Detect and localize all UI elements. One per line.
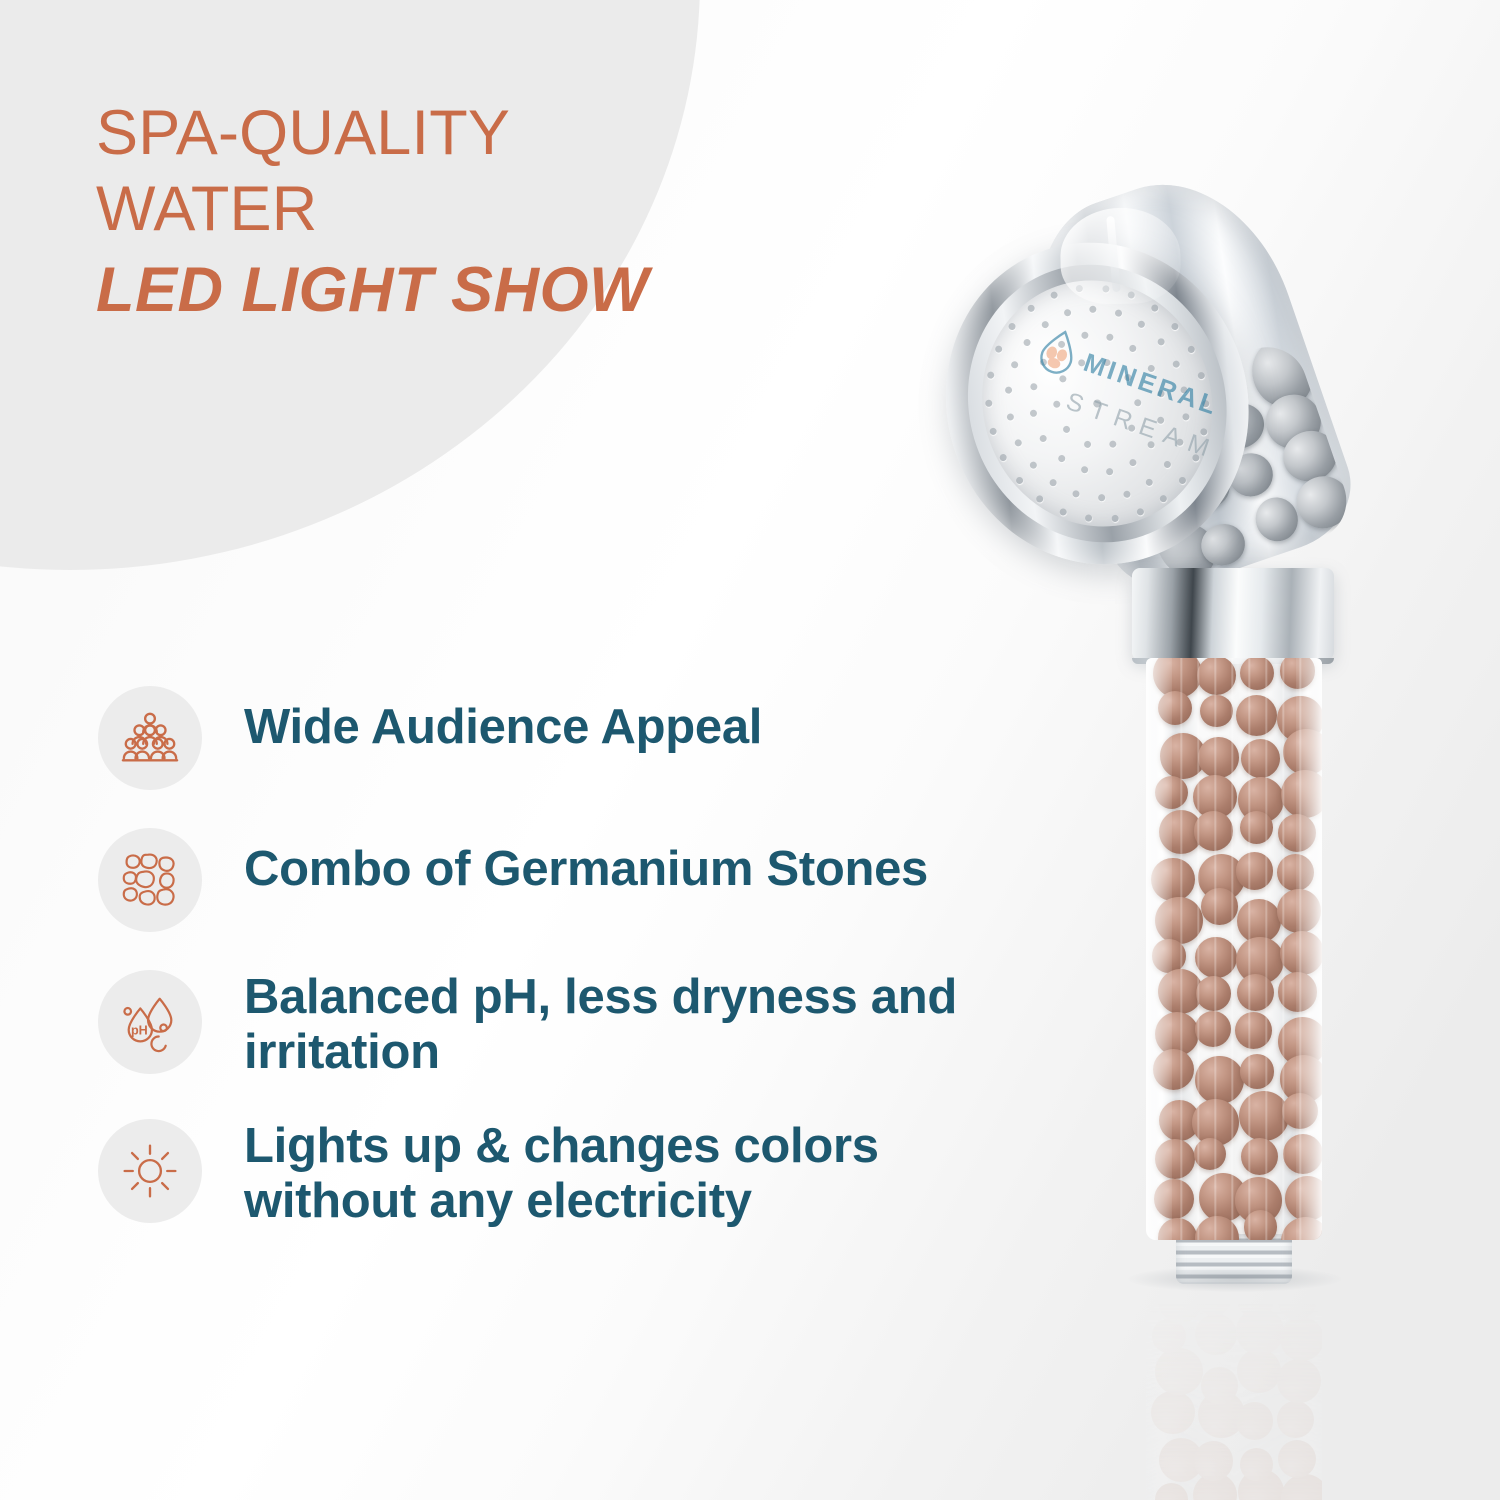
handle-fluted-texture bbox=[1166, 658, 1302, 1240]
germanium-bead-handle bbox=[1146, 658, 1322, 1240]
feature-label: Combo of Germanium Stones bbox=[244, 828, 928, 897]
sun-light-icon bbox=[98, 1119, 202, 1223]
audience-crowd-icon bbox=[98, 686, 202, 790]
headline-line-3: LED LIGHT SHOW bbox=[96, 253, 796, 329]
feature-item: Wide Audience Appeal bbox=[98, 686, 1028, 790]
feature-label: Wide Audience Appeal bbox=[244, 686, 762, 755]
handle-glass-right bbox=[1296, 658, 1322, 1240]
feature-item: Combo of Germanium Stones bbox=[98, 828, 1028, 932]
ph-water-drop-icon: pH bbox=[98, 970, 202, 1074]
headline-line-2: WATER bbox=[96, 172, 796, 248]
svg-text:pH: pH bbox=[131, 1024, 148, 1038]
product-image: MINERAL STREAM bbox=[900, 180, 1420, 1500]
headline-line-1: SPA-QUALITY bbox=[96, 96, 796, 172]
feature-list: Wide Audience Appeal Combo of Germanium … bbox=[98, 686, 1028, 1229]
feature-item: Lights up & changes colors without any e… bbox=[98, 1119, 1028, 1230]
infographic-canvas: SPA-QUALITY WATER LED LIGHT SHOW bbox=[0, 0, 1500, 1500]
headline: SPA-QUALITY WATER LED LIGHT SHOW bbox=[96, 96, 796, 329]
handle-glass-left bbox=[1146, 658, 1172, 1240]
feature-item: pH Balanced pH, less dryness and irritat… bbox=[98, 970, 1028, 1081]
reflection-handle bbox=[1146, 1304, 1322, 1500]
chrome-highlight bbox=[1060, 207, 1182, 305]
chrome-collar bbox=[1132, 568, 1334, 660]
product-reflection bbox=[900, 1288, 1420, 1500]
pebble-stones-icon bbox=[98, 828, 202, 932]
